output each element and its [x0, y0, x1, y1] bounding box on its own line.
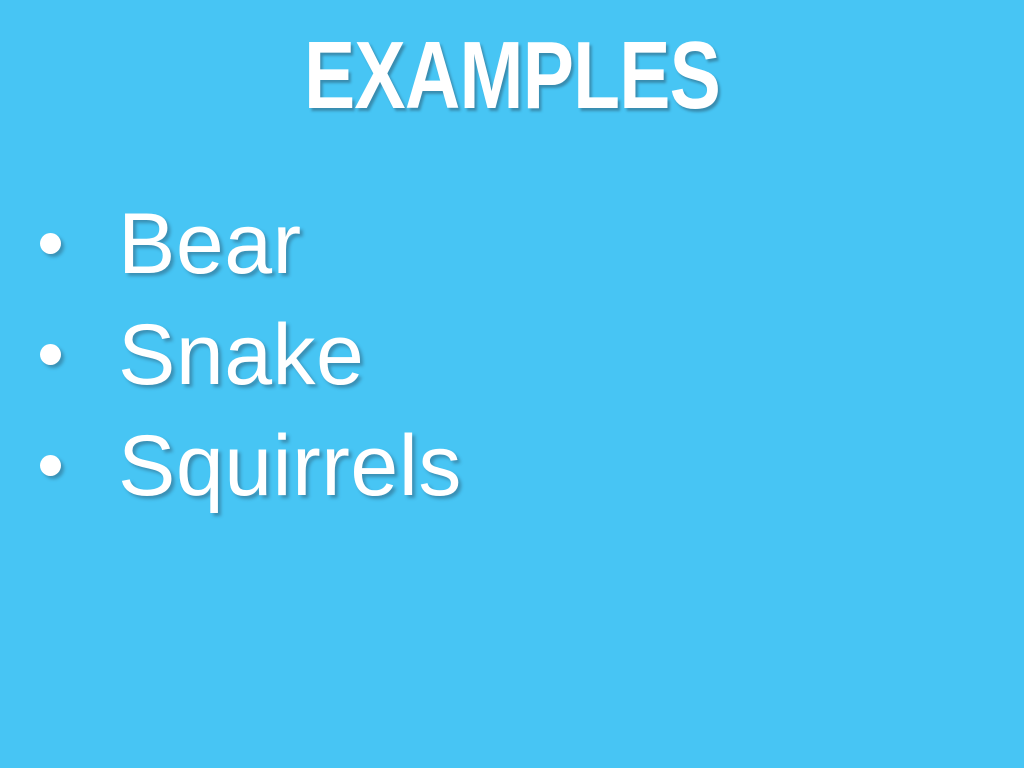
bullet-dot-icon — [40, 233, 61, 254]
list-item: Snake — [40, 299, 980, 410]
bullet-dot-icon — [40, 455, 61, 476]
presentation-slide: EXAMPLES Bear Snake Squirrels — [0, 0, 1024, 768]
bullet-dot-icon — [40, 344, 61, 365]
list-item: Bear — [40, 188, 980, 299]
list-item-label: Snake — [118, 312, 364, 398]
list-item-label: Squirrels — [118, 423, 462, 509]
list-item: Squirrels — [40, 410, 980, 521]
page-title: EXAMPLES — [0, 28, 1024, 124]
bullet-list: Bear Snake Squirrels — [40, 188, 980, 521]
page-title-text: EXAMPLES — [304, 28, 720, 124]
list-item-label: Bear — [118, 201, 302, 287]
